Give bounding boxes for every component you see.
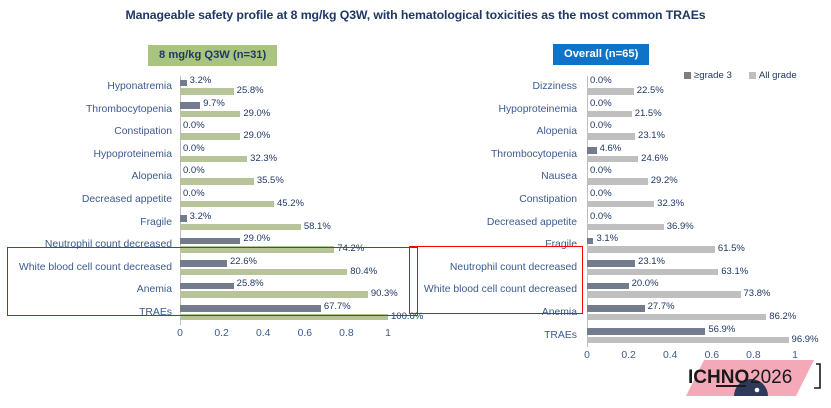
chart-badge-right: Overall (n=65) bbox=[553, 44, 649, 65]
chart-row-label: Dizziness bbox=[415, 76, 583, 99]
chart-right-rows: Dizziness0.0%22.5%Hypoproteinemia0.0%21.… bbox=[415, 76, 831, 347]
chart-row: Decreased appetite0.0%45.2% bbox=[0, 189, 420, 212]
chart-row: Neutrophil count decreased29.0%74.2% bbox=[0, 234, 420, 257]
chart-row: Fragile3.2%58.1% bbox=[0, 212, 420, 235]
chart-row-plot: 56.9%96.9% bbox=[587, 325, 795, 348]
chart-row: Dizziness0.0%22.5% bbox=[415, 76, 831, 99]
chart-left: Hyponatremia3.2%25.8%Thrombocytopenia9.7… bbox=[0, 76, 420, 331]
chart-row-label: Decreased appetite bbox=[415, 212, 583, 235]
chart-row: Hypoproteinemia0.0%21.5% bbox=[415, 99, 831, 122]
chart-row: Constipation0.0%29.0% bbox=[0, 121, 420, 144]
bar-grade3 bbox=[587, 305, 645, 312]
x-axis-tick: 0.2 bbox=[214, 328, 228, 339]
bar-allgrade bbox=[587, 156, 638, 163]
chart-row-label: Hypoproteinemia bbox=[0, 144, 178, 167]
bar-value-allgrade: 23.1% bbox=[638, 130, 665, 141]
bar-value-allgrade: 25.8% bbox=[237, 85, 264, 96]
bar-allgrade bbox=[587, 133, 635, 140]
bar-value-allgrade: 80.4% bbox=[350, 266, 377, 277]
bar-value-grade3: 22.6% bbox=[230, 256, 257, 267]
bar-allgrade bbox=[180, 201, 274, 208]
chart-row: Hyponatremia3.2%25.8% bbox=[0, 76, 420, 99]
chart-row-label: Decreased appetite bbox=[0, 189, 178, 212]
bar-allgrade bbox=[180, 314, 388, 321]
bar-value-grade3: 20.0% bbox=[632, 278, 659, 289]
bar-value-grade3: 0.0% bbox=[590, 188, 612, 199]
bar-value-allgrade: 86.2% bbox=[769, 311, 796, 322]
chart-row: Decreased appetite0.0%36.9% bbox=[415, 212, 831, 235]
bar-value-grade3: 0.0% bbox=[183, 188, 205, 199]
bar-grade3 bbox=[180, 305, 321, 312]
bar-value-grade3: 0.0% bbox=[590, 120, 612, 131]
bar-value-grade3: 0.0% bbox=[590, 98, 612, 109]
bar-grade3 bbox=[180, 260, 227, 267]
bar-value-allgrade: 35.5% bbox=[257, 175, 284, 186]
bar-allgrade bbox=[180, 224, 301, 231]
chart-row-label: Anemia bbox=[415, 302, 583, 325]
bar-value-grade3: 67.7% bbox=[324, 301, 351, 312]
bar-value-grade3: 3.1% bbox=[596, 233, 618, 244]
bar-value-grade3: 4.6% bbox=[600, 143, 622, 154]
chart-row-plot: 9.7%29.0% bbox=[180, 99, 388, 122]
chart-row-label: Fragile bbox=[415, 234, 583, 257]
chart-row-label: Anemia bbox=[0, 279, 178, 302]
bar-grade3 bbox=[587, 328, 705, 335]
x-axis-tick: 0.2 bbox=[621, 350, 635, 361]
bar-value-allgrade: 32.3% bbox=[657, 198, 684, 209]
chart-row-plot: 25.8%90.3% bbox=[180, 279, 388, 302]
chart-row-label: Thrombocytopenia bbox=[0, 99, 178, 122]
bar-allgrade bbox=[180, 156, 247, 163]
chart-row: Thrombocytopenia4.6%24.6% bbox=[415, 144, 831, 167]
bar-value-allgrade: 73.8% bbox=[744, 288, 771, 299]
bar-value-allgrade: 29.2% bbox=[651, 175, 678, 186]
chart-row: Alopenia0.0%35.5% bbox=[0, 166, 420, 189]
bar-value-grade3: 56.9% bbox=[708, 324, 735, 335]
bar-allgrade bbox=[180, 178, 254, 185]
bar-allgrade bbox=[180, 111, 240, 118]
chart-row-label: TRAEs bbox=[415, 325, 583, 348]
bar-value-grade3: 3.2% bbox=[190, 75, 212, 86]
bar-allgrade bbox=[587, 291, 741, 298]
chart-row-plot: 0.0%32.3% bbox=[587, 189, 795, 212]
chart-row-plot: 4.6%24.6% bbox=[587, 144, 795, 167]
chart-row-label: Fragile bbox=[0, 212, 178, 235]
bar-value-allgrade: 32.3% bbox=[250, 153, 277, 164]
bar-value-grade3: 0.0% bbox=[590, 165, 612, 176]
chart-row-plot: 0.0%22.5% bbox=[587, 76, 795, 99]
bar-allgrade bbox=[587, 337, 789, 344]
bar-value-allgrade: 36.9% bbox=[667, 221, 694, 232]
bar-allgrade bbox=[180, 269, 347, 276]
chart-row-plot: 27.7%86.2% bbox=[587, 302, 795, 325]
bar-grade3 bbox=[587, 283, 629, 290]
chart-row: TRAEs56.9%96.9% bbox=[415, 325, 831, 348]
bar-value-grade3: 0.0% bbox=[183, 165, 205, 176]
bar-value-allgrade: 21.5% bbox=[635, 108, 662, 119]
bar-value-grade3: 9.7% bbox=[203, 98, 225, 109]
chart-row-label: Neutrophil count decreased bbox=[0, 234, 178, 257]
x-axis-tick: 0.6 bbox=[298, 328, 312, 339]
chart-row: Neutrophil count decreased23.1%63.1% bbox=[415, 257, 831, 280]
chart-right: Dizziness0.0%22.5%Hypoproteinemia0.0%21.… bbox=[415, 76, 831, 331]
x-axis-tick: 0.4 bbox=[256, 328, 270, 339]
chart-row-label: Constipation bbox=[415, 189, 583, 212]
bar-grade3 bbox=[180, 283, 234, 290]
chart-row-label: Nausea bbox=[415, 166, 583, 189]
chart-row: Alopenia0.0%23.1% bbox=[415, 121, 831, 144]
chart-row-plot: 29.0%74.2% bbox=[180, 234, 388, 257]
bar-value-grade3: 0.0% bbox=[590, 211, 612, 222]
chart-row-label: Alopenia bbox=[0, 166, 178, 189]
x-axis-tick: 0 bbox=[584, 350, 590, 361]
bar-allgrade bbox=[180, 246, 334, 253]
slide-root: Manageable safety profile at 8 mg/kg Q3W… bbox=[0, 0, 831, 408]
chart-row-label: Constipation bbox=[0, 121, 178, 144]
bar-value-allgrade: 45.2% bbox=[277, 198, 304, 209]
chart-row-label: TRAEs bbox=[0, 302, 178, 325]
bar-allgrade bbox=[587, 111, 632, 118]
bar-allgrade bbox=[180, 291, 368, 298]
bar-allgrade bbox=[587, 201, 654, 208]
chart-row-plot: 0.0%21.5% bbox=[587, 99, 795, 122]
bar-value-allgrade: 58.1% bbox=[304, 221, 331, 232]
svg-text:2026: 2026 bbox=[750, 367, 792, 388]
chart-row-label: Hyponatremia bbox=[0, 76, 178, 99]
chart-row-plot: 0.0%45.2% bbox=[180, 189, 388, 212]
chart-row: Fragile3.1%61.5% bbox=[415, 234, 831, 257]
chart-row-label: White blood cell count decreased bbox=[0, 257, 178, 280]
bar-grade3 bbox=[587, 238, 593, 245]
x-axis-tick: 0 bbox=[177, 328, 183, 339]
bar-grade3 bbox=[587, 147, 597, 154]
chart-row-plot: 0.0%35.5% bbox=[180, 166, 388, 189]
bar-value-allgrade: 29.0% bbox=[243, 108, 270, 119]
bar-value-allgrade: 24.6% bbox=[641, 153, 668, 164]
chart-row-plot: 0.0%32.3% bbox=[180, 144, 388, 167]
bar-value-grade3: 0.0% bbox=[183, 120, 205, 131]
chart-row: Hypoproteinemia0.0%32.3% bbox=[0, 144, 420, 167]
chart-row-plot: 67.7%100.0% bbox=[180, 302, 388, 325]
bar-value-grade3: 27.7% bbox=[648, 301, 675, 312]
bar-allgrade bbox=[587, 246, 715, 253]
bar-value-allgrade: 61.5% bbox=[718, 243, 745, 254]
chart-row: Nausea0.0%29.2% bbox=[415, 166, 831, 189]
bar-value-grade3: 0.0% bbox=[590, 75, 612, 86]
chart-row-plot: 0.0%29.0% bbox=[180, 121, 388, 144]
bar-grade3 bbox=[180, 238, 240, 245]
chart-row-label: Alopenia bbox=[415, 121, 583, 144]
chart-row-label: Thrombocytopenia bbox=[415, 144, 583, 167]
chart-left-rows: Hyponatremia3.2%25.8%Thrombocytopenia9.7… bbox=[0, 76, 420, 325]
bar-value-grade3: 25.8% bbox=[237, 278, 264, 289]
chart-row: Anemia27.7%86.2% bbox=[415, 302, 831, 325]
bar-value-allgrade: 96.9% bbox=[792, 334, 819, 345]
bar-allgrade bbox=[180, 133, 240, 140]
chart-row-plot: 0.0%36.9% bbox=[587, 212, 795, 235]
bar-allgrade bbox=[180, 88, 234, 95]
bar-value-grade3: 29.0% bbox=[243, 233, 270, 244]
chart-row-plot: 3.2%58.1% bbox=[180, 212, 388, 235]
bar-grade3 bbox=[180, 80, 187, 87]
chart-row-plot: 20.0%73.8% bbox=[587, 279, 795, 302]
bar-value-allgrade: 74.2% bbox=[337, 243, 364, 254]
chart-row-plot: 0.0%29.2% bbox=[587, 166, 795, 189]
chart-row-label: White blood cell count decreased bbox=[415, 279, 583, 302]
chart-row: Constipation0.0%32.3% bbox=[415, 189, 831, 212]
x-axis-tick: 1 bbox=[385, 328, 391, 339]
bar-value-allgrade: 22.5% bbox=[637, 85, 664, 96]
bar-allgrade bbox=[587, 314, 766, 321]
chart-row: Thrombocytopenia9.7%29.0% bbox=[0, 99, 420, 122]
x-axis-tick: 0.8 bbox=[339, 328, 353, 339]
chart-row-label: Neutrophil count decreased bbox=[415, 257, 583, 280]
chart-row-plot: 0.0%23.1% bbox=[587, 121, 795, 144]
bar-value-grade3: 3.2% bbox=[190, 211, 212, 222]
chart-row-plot: 3.1%61.5% bbox=[587, 234, 795, 257]
chart-row-plot: 3.2%25.8% bbox=[180, 76, 388, 99]
bar-allgrade bbox=[587, 269, 718, 276]
bar-value-allgrade: 29.0% bbox=[243, 130, 270, 141]
bar-value-grade3: 23.1% bbox=[638, 256, 665, 267]
bar-value-grade3: 0.0% bbox=[183, 143, 205, 154]
bar-value-allgrade: 63.1% bbox=[721, 266, 748, 277]
bar-allgrade bbox=[587, 88, 634, 95]
chart-row: White blood cell count decreased22.6%80.… bbox=[0, 257, 420, 280]
chart-row-plot: 22.6%80.4% bbox=[180, 257, 388, 280]
slide-title: Manageable safety profile at 8 mg/kg Q3W… bbox=[0, 8, 831, 22]
bar-grade3 bbox=[587, 260, 635, 267]
chart-row-plot: 23.1%63.1% bbox=[587, 257, 795, 280]
svg-text:ICHNO: ICHNO bbox=[688, 367, 749, 388]
ichno-2026-logo: ICHNO 2026 bbox=[676, 356, 826, 402]
bar-grade3 bbox=[180, 215, 187, 222]
bar-allgrade bbox=[587, 224, 664, 231]
logo-svg: ICHNO 2026 bbox=[676, 356, 826, 402]
chart-row: White blood cell count decreased20.0%73.… bbox=[415, 279, 831, 302]
chart-badge-left: 8 mg/kg Q3W (n=31) bbox=[148, 45, 277, 66]
bar-grade3 bbox=[180, 102, 200, 109]
chart-row: TRAEs67.7%100.0% bbox=[0, 302, 420, 325]
chart-row: Anemia25.8%90.3% bbox=[0, 279, 420, 302]
chart-row-label: Hypoproteinemia bbox=[415, 99, 583, 122]
bar-value-allgrade: 90.3% bbox=[371, 288, 398, 299]
chart-left-x-axis: 00.20.40.60.81 bbox=[180, 328, 388, 344]
bar-allgrade bbox=[587, 178, 648, 185]
